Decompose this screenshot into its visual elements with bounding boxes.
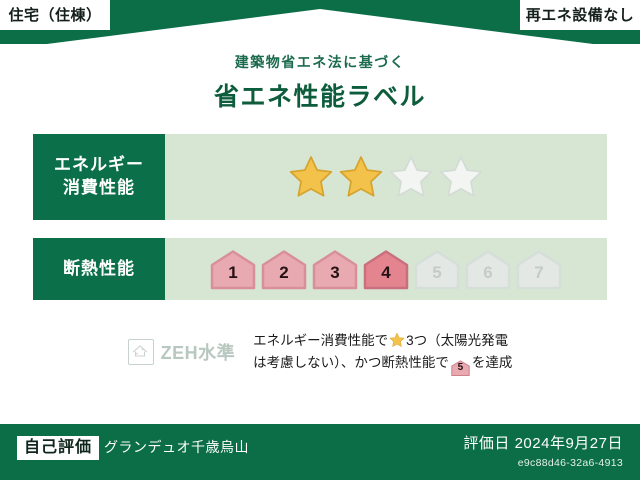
insulation-level-number: 1 — [228, 264, 237, 290]
inline-insulation-badge-value: 5 — [451, 358, 470, 378]
label-id: e9c88d46-32a6-4913 — [463, 457, 623, 469]
energy-label-line1: エネルギー — [54, 154, 144, 177]
insulation-level-badge: 3 — [311, 248, 359, 290]
building-name: グランデュオ千歳烏山 — [104, 437, 249, 457]
star-rating — [288, 154, 484, 200]
insulation-level-number: 7 — [534, 264, 543, 290]
title-main: 省エネ性能ラベル — [0, 77, 640, 113]
energy-performance-label: 住宅（住棟） 再エネ設備なし 建築物省エネ法に基づく 省エネ性能ラベル エネルギ… — [0, 0, 640, 480]
zeh-standard-row: ZEH水準 エネルギー消費性能で3つ（太陽光発電 は考慮しない）、かつ断熱性能で… — [33, 330, 607, 374]
inline-insulation-badge: 5 — [451, 358, 470, 374]
self-evaluation-badge: 自己評価 — [17, 436, 99, 460]
label-footer: 自己評価 グランデュオ千歳烏山 評価日 2024年9月27日 e9c88d46-… — [0, 424, 640, 480]
tab-renewable-equipment-label: 再エネ設備なし — [526, 8, 635, 23]
star-filled-icon — [288, 154, 334, 200]
footer-left-group: 自己評価 グランデュオ千歳烏山 — [17, 436, 249, 460]
energy-performance-label-block: エネルギー 消費性能 — [33, 134, 165, 220]
tab-housing-type: 住宅（住棟） — [0, 0, 110, 30]
star-empty-icon — [438, 154, 484, 200]
insulation-level-badge: 7 — [515, 248, 563, 290]
insulation-level-scale: 1234567 — [209, 248, 563, 290]
zeh-house-icon — [128, 339, 154, 365]
insulation-level-badge: 1 — [209, 248, 257, 290]
zeh-desc-part1: エネルギー消費性能で — [253, 333, 388, 348]
zeh-mark: ZEH水準 — [128, 339, 236, 365]
insulation-performance-label-block: 断熱性能 — [33, 238, 165, 300]
title-subtitle: 建築物省エネ法に基づく — [0, 52, 640, 72]
insulation-level-badge: 4 — [362, 248, 410, 290]
energy-performance-value — [165, 134, 607, 220]
insulation-level-badge: 5 — [413, 248, 461, 290]
energy-performance-panel: エネルギー 消費性能 — [33, 134, 607, 220]
tab-housing-type-label: 住宅（住棟） — [8, 8, 101, 23]
zeh-desc-star-count: 3つ（太陽光発電 — [406, 333, 508, 348]
insulation-performance-panel: 断熱性能 1234567 — [33, 238, 607, 300]
insulation-level-badge: 2 — [260, 248, 308, 290]
page-title: 建築物省エネ法に基づく 省エネ性能ラベル — [0, 52, 640, 113]
insulation-performance-value: 1234567 — [165, 238, 607, 300]
star-empty-icon — [388, 154, 434, 200]
insulation-level-badge: 6 — [464, 248, 512, 290]
energy-label-line2: 消費性能 — [63, 177, 135, 200]
insulation-level-number: 2 — [279, 264, 288, 290]
footer-right-group: 評価日 2024年9月27日 e9c88d46-32a6-4913 — [463, 432, 623, 469]
star-filled-icon — [338, 154, 384, 200]
evaluation-date: 評価日 2024年9月27日 — [463, 432, 623, 453]
inline-star-icon — [389, 332, 405, 348]
insulation-level-number: 5 — [432, 264, 441, 290]
zeh-desc-part3: を達成 — [472, 355, 513, 370]
insulation-label: 断熱性能 — [63, 258, 135, 281]
insulation-level-number: 6 — [483, 264, 492, 290]
zeh-description: エネルギー消費性能で3つ（太陽光発電 は考慮しない）、かつ断熱性能で5を達成 — [253, 330, 512, 374]
insulation-level-number: 3 — [330, 264, 339, 290]
zeh-mark-label: ZEH水準 — [161, 339, 236, 365]
zeh-desc-part2: は考慮しない）、かつ断熱性能で — [253, 355, 449, 370]
insulation-level-number: 4 — [381, 264, 390, 290]
tab-renewable-equipment: 再エネ設備なし — [520, 0, 640, 30]
